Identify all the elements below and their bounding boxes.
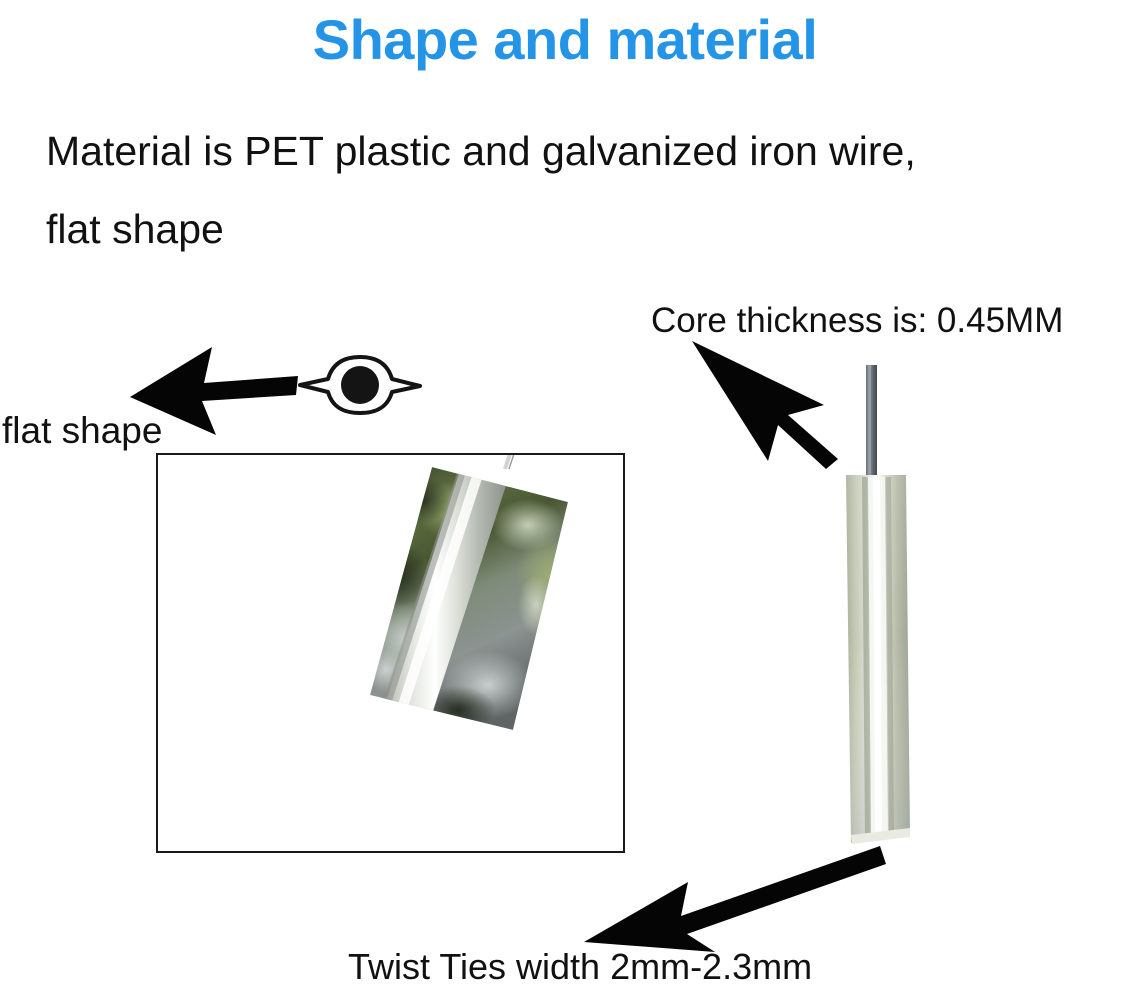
twist-tie-photo-frame bbox=[156, 453, 625, 853]
twist-tie-photo bbox=[158, 455, 623, 851]
twist-tie-width-arrow-icon bbox=[584, 842, 890, 954]
product-infographic: Shape and material Material is PET plast… bbox=[0, 0, 1130, 986]
label-flat-shape: flat shape bbox=[2, 410, 162, 452]
intro-line-2: flat shape bbox=[46, 190, 1130, 268]
intro-paragraph: Material is PET plastic and galvanized i… bbox=[46, 112, 1130, 268]
label-core-thickness: Core thickness is: 0.45MM bbox=[651, 300, 1063, 342]
label-twist-tie-width: Twist Ties width 2mm-2.3mm bbox=[348, 946, 812, 986]
intro-line-1: Material is PET plastic and galvanized i… bbox=[46, 112, 1130, 190]
page-title: Shape and material bbox=[0, 6, 1130, 74]
twist-tie-sample-figure bbox=[818, 365, 938, 850]
